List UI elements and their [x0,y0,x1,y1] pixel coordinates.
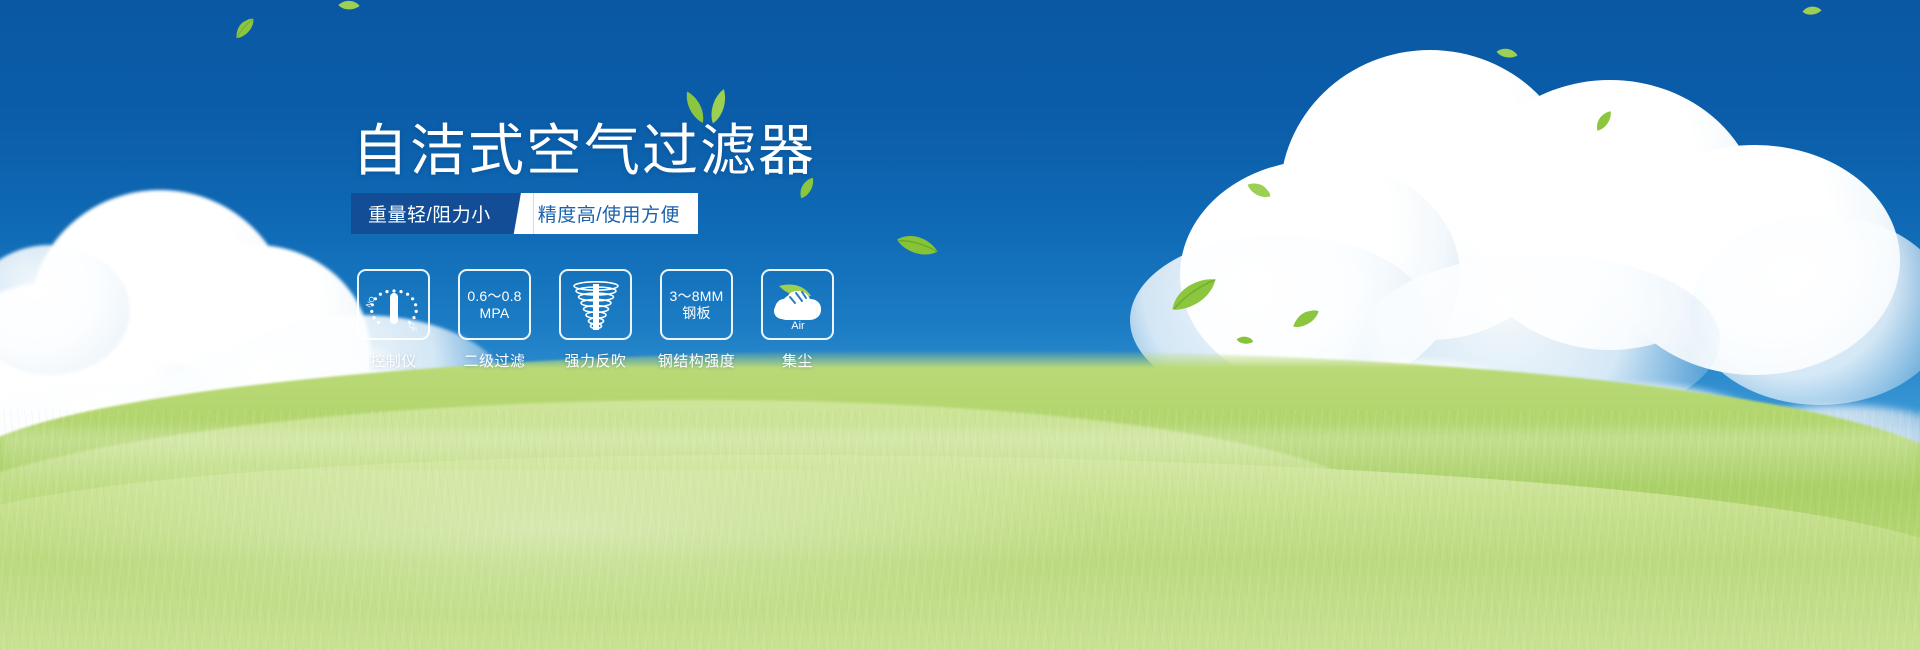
steel-plate-icon: 3～8MM钢板 [670,288,724,322]
badge-divider [508,193,534,234]
feature-icon-box: Air [761,269,834,340]
feature-label: 钢结构强度 [658,350,736,371]
air-label: Air [791,320,805,330]
feature-label: 强力反吹 [564,350,626,371]
badge-right-text: 精度高/使用方便 [534,193,698,234]
air-cloud-icon: Air [769,280,827,330]
feature-list: NO OFF 控制仪 0.6～0.8MPA 二级过滤 [357,269,834,371]
control-dial-icon: NO OFF [364,279,424,331]
feature-icon-box: 3～8MM钢板 [660,269,733,340]
feature-icon-box: 0.6～0.8MPA [458,269,531,340]
feature-item[interactable]: 强力反吹 [559,269,632,371]
feature-label: 二级过滤 [463,350,525,371]
feature-label: 集尘 [782,350,813,371]
badge-left-text: 重量轻/阻力小 [351,193,508,234]
feature-item[interactable]: 0.6～0.8MPA 二级过滤 [458,269,531,371]
feature-icon-box [559,269,632,340]
banner-content: 自洁式空气过滤器 重量轻/阻力小 精度高/使用方便 [0,0,1920,650]
feature-label: 控制仪 [370,350,417,371]
feature-icon-box: NO OFF [357,269,430,340]
page-title: 自洁式空气过滤器 [352,119,816,183]
feature-item[interactable]: Air 集尘 [761,269,834,371]
coil-spring-icon [570,278,622,332]
subtitle-badge: 重量轻/阻力小 精度高/使用方便 [351,193,698,234]
dial-on-label: NO [364,294,377,308]
hero-banner: 自洁式空气过滤器 重量轻/阻力小 精度高/使用方便 [0,0,1920,650]
feature-item[interactable]: NO OFF 控制仪 [357,269,430,371]
feature-item[interactable]: 3～8MM钢板 钢结构强度 [660,269,733,371]
pressure-text-icon: 0.6～0.8MPA [467,288,521,322]
